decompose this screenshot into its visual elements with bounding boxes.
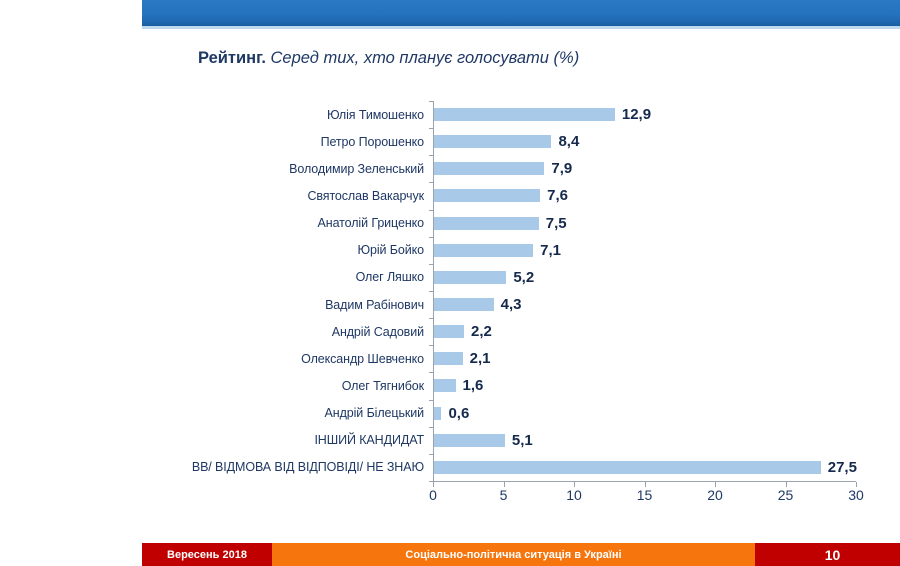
chart-category-label: Вадим Рабінович: [142, 298, 433, 312]
chart-category-label: Святослав Вакарчук: [142, 189, 433, 203]
chart-row: Вадим Рабінович4,3: [142, 291, 900, 318]
chart-bar-value: 7,1: [540, 242, 561, 259]
chart-bar[interactable]: [433, 379, 456, 392]
chart-bar-wrap: 7,5: [433, 210, 900, 237]
chart-category-label: ВВ/ ВІДМОВА ВІД ВІДПОВІДІ/ НЕ ЗНАЮ: [142, 460, 433, 474]
slide-top-blue-band: [142, 0, 900, 26]
y-axis-tick: [429, 400, 433, 401]
chart-row: Юрій Бойко7,1: [142, 237, 900, 264]
bar-chart: Юлія Тимошенко12,9Петро Порошенко8,4Воло…: [142, 101, 900, 541]
chart-bar-wrap: 0,6: [433, 400, 900, 427]
slide-left-margin: [0, 0, 110, 566]
chart-bar-wrap: 2,1: [433, 345, 900, 372]
chart-bar-value: 7,5: [546, 215, 567, 232]
chart-bar-value: 2,2: [471, 323, 492, 340]
chart-bar-wrap: 4,3: [433, 291, 900, 318]
chart-category-label: Олег Тягнибок: [142, 379, 433, 393]
y-axis-tick: [429, 427, 433, 428]
x-axis-tick-label: 30: [848, 487, 864, 503]
chart-row: Андрій Білецький0,6: [142, 400, 900, 427]
footer-date: Вересень 2018: [142, 543, 272, 566]
y-axis-tick: [429, 291, 433, 292]
chart-category-label: Володимир Зеленський: [142, 162, 433, 176]
chart-bar-wrap: 27,5: [433, 454, 900, 481]
y-axis-tick: [429, 372, 433, 373]
chart-bar-value: 5,1: [512, 432, 533, 449]
chart-row: Володимир Зеленський7,9: [142, 155, 900, 182]
chart-category-label: Андрій Садовий: [142, 325, 433, 339]
chart-bar-value: 12,9: [622, 106, 651, 123]
chart-row: Олександр Шевченко2,1: [142, 345, 900, 372]
chart-row: Олег Тягнибок1,6: [142, 372, 900, 399]
chart-row: Юлія Тимошенко12,9: [142, 101, 900, 128]
y-axis-tick: [429, 210, 433, 211]
chart-title-bold: Рейтинг.: [198, 49, 266, 67]
chart-row: ВВ/ ВІДМОВА ВІД ВІДПОВІДІ/ НЕ ЗНАЮ27,5: [142, 454, 900, 481]
chart-category-label: Юрій Бойко: [142, 243, 433, 257]
y-axis-tick: [429, 101, 433, 102]
y-axis-line: [433, 101, 434, 481]
chart-row: Анатолій Гриценко7,5: [142, 210, 900, 237]
chart-category-label: Андрій Білецький: [142, 406, 433, 420]
chart-bar[interactable]: [433, 162, 544, 175]
x-axis-tick-labels: 051015202530: [433, 487, 856, 509]
chart-bar-value: 7,6: [547, 187, 568, 204]
x-axis-tick-label: 5: [500, 487, 508, 503]
chart-row: Андрій Садовий2,2: [142, 318, 900, 345]
x-axis-tick-label: 10: [566, 487, 582, 503]
chart-bar[interactable]: [433, 271, 506, 284]
y-axis-tick: [429, 237, 433, 238]
chart-bar-value: 27,5: [828, 459, 857, 476]
y-axis-tick: [429, 345, 433, 346]
chart-bar-value: 7,9: [551, 160, 572, 177]
chart-category-label: Петро Порошенко: [142, 135, 433, 149]
chart-bar-wrap: 5,2: [433, 264, 900, 291]
chart-bar-value: 0,6: [448, 405, 469, 422]
chart-bar-value: 8,4: [558, 133, 579, 150]
chart-bar-wrap: 7,1: [433, 237, 900, 264]
chart-bar[interactable]: [433, 434, 505, 447]
slide-left-dark-strip: [110, 0, 142, 566]
chart-bar-wrap: 7,6: [433, 182, 900, 209]
y-axis-tick: [429, 182, 433, 183]
chart-bar[interactable]: [433, 407, 441, 420]
chart-bar[interactable]: [433, 189, 540, 202]
chart-row: Олег Ляшко5,2: [142, 264, 900, 291]
chart-bar[interactable]: [433, 298, 494, 311]
x-axis-tick-label: 0: [429, 487, 437, 503]
chart-title: Рейтинг. Серед тих, хто планує голосуват…: [198, 49, 579, 68]
chart-bar-wrap: 8,4: [433, 128, 900, 155]
footer-page-number: 10: [755, 543, 900, 566]
x-axis-tick-label: 20: [707, 487, 723, 503]
y-axis-tick: [429, 264, 433, 265]
y-axis-tick: [429, 128, 433, 129]
chart-row: Святослав Вакарчук7,6: [142, 182, 900, 209]
chart-category-label: ІНШИЙ КАНДИДАТ: [142, 433, 433, 447]
chart-bar-wrap: 7,9: [433, 155, 900, 182]
chart-title-italic: Серед тих, хто планує голосувати (%): [271, 49, 580, 67]
footer-subject: Соціально-політична ситуація в Україні: [272, 543, 755, 566]
chart-bar-wrap: 2,2: [433, 318, 900, 345]
chart-category-label: Олег Ляшко: [142, 270, 433, 284]
chart-bar-value: 1,6: [463, 377, 484, 394]
chart-bar[interactable]: [433, 244, 533, 257]
slide-canvas: Рейтинг. Серед тих, хто планує голосуват…: [0, 0, 900, 566]
chart-bar-value: 2,1: [470, 350, 491, 367]
y-axis-tick: [429, 155, 433, 156]
slide-content: Рейтинг. Серед тих, хто планує голосуват…: [142, 29, 900, 543]
chart-bar[interactable]: [433, 352, 463, 365]
chart-rows: Юлія Тимошенко12,9Петро Порошенко8,4Воло…: [142, 101, 900, 481]
chart-row: ІНШИЙ КАНДИДАТ5,1: [142, 427, 900, 454]
chart-category-label: Юлія Тимошенко: [142, 108, 433, 122]
chart-row: Петро Порошенко8,4: [142, 128, 900, 155]
chart-bar[interactable]: [433, 135, 551, 148]
chart-category-label: Олександр Шевченко: [142, 352, 433, 366]
chart-bar-value: 4,3: [501, 296, 522, 313]
chart-bar[interactable]: [433, 325, 464, 338]
chart-bar-wrap: 12,9: [433, 101, 900, 128]
x-axis-tick-label: 25: [778, 487, 794, 503]
y-axis-tick: [429, 318, 433, 319]
chart-category-label: Анатолій Гриценко: [142, 216, 433, 230]
chart-bar[interactable]: [433, 461, 821, 474]
chart-bar[interactable]: [433, 108, 615, 121]
y-axis-tick: [429, 454, 433, 455]
chart-bar-wrap: 1,6: [433, 372, 900, 399]
footer-page-number-value: 10: [825, 547, 841, 563]
slide-footer: Вересень 2018 Соціально-політична ситуац…: [142, 543, 900, 566]
chart-bar-value: 5,2: [513, 269, 534, 286]
chart-bar[interactable]: [433, 217, 539, 230]
chart-bar-wrap: 5,1: [433, 427, 900, 454]
x-axis-tick-label: 15: [637, 487, 653, 503]
